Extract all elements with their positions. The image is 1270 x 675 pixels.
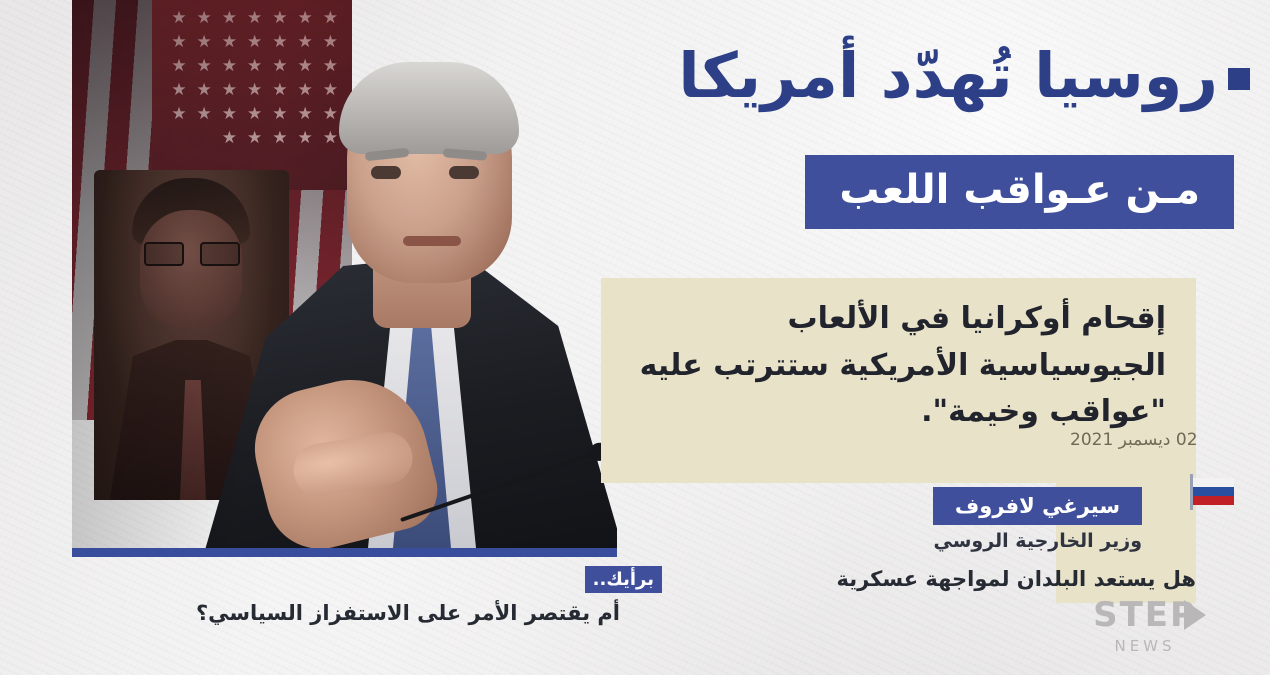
lavrov-hair [339,62,519,154]
russia-flag-icon [1190,478,1234,508]
footer-question-line-1: هل يستعد البلدان لمواجهة عسكرية [676,567,1196,591]
speaker-role: وزير الخارجية الروسي [934,530,1143,552]
lavrov-mouth [403,236,461,246]
news-photo: ★★★★★★★★★★★★★★★★★★★★★★★★★★★★★★★★★★★★★★★★ [72,0,617,548]
lavrov-eye-right [449,166,479,179]
sergey-lavrov-portrait [197,0,617,548]
logo-subtext: NEWS [1060,637,1230,655]
photo-underline-bar [72,548,617,557]
headline-line-1: روسيا تُهدّد أمريكا [678,40,1218,111]
step-news-logo: STEP NEWS [1060,598,1230,658]
headline-square-marker [1228,68,1250,90]
speaker-name: سيرغي لافروف [933,487,1142,525]
logo-arrow-icon [1184,600,1206,630]
quote-text: إقحام أوكرانيا في الألعاب الجيوسياسية ال… [626,296,1166,436]
headline-line-2: مـن عـواقب اللعب [805,155,1234,229]
lavrov-eye-left [371,166,401,179]
opinion-tag: برأيك.. [585,566,662,593]
footer-question-line-2: أم يقتصر الأمر على الاستفزاز السياسي؟ [80,601,620,625]
quote-date: 02 ديسمبر 2021 [1070,430,1270,450]
